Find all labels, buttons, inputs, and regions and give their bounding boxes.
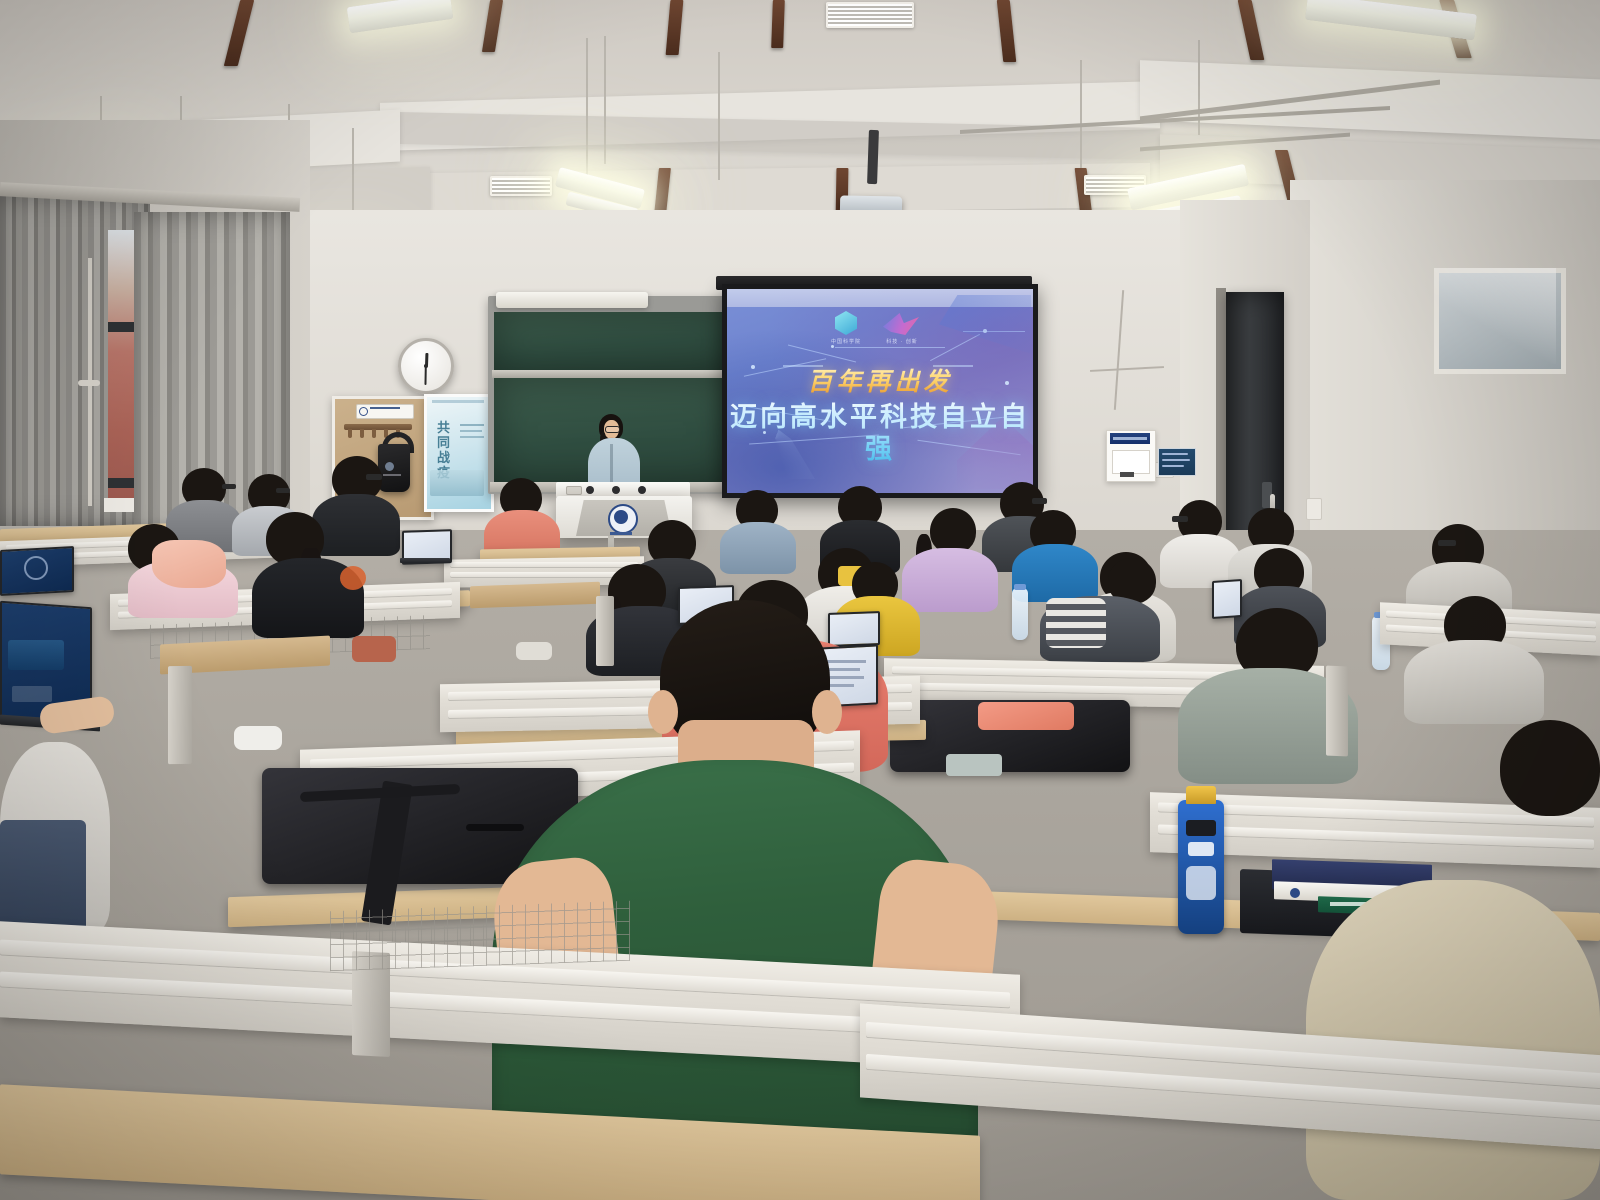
wall-switch: [1306, 498, 1322, 520]
podium-control-button[interactable]: [612, 486, 620, 494]
water-bottle: [1012, 588, 1028, 640]
light-hanger: [718, 52, 720, 180]
student-glasses: [1032, 498, 1047, 504]
coat-hook: [360, 429, 364, 438]
student-striped-shirt: [1046, 598, 1106, 648]
cube-logo-icon: [835, 311, 857, 335]
laptop-screen-line: [824, 660, 866, 663]
student-head: [1500, 720, 1600, 816]
podium-emblem-inner: [614, 510, 628, 524]
bench-slat: [450, 572, 638, 578]
corkboard-label-logo: [359, 407, 368, 416]
slide-title-primary: 百年再出发: [727, 367, 1033, 397]
slide: 中国科学院 科技 · 创新 百年再出发 迈向高水平科技自立自强: [727, 289, 1033, 493]
podium-emblem-text: [610, 532, 632, 535]
presenter-glasses: [605, 426, 620, 433]
notice-diagram: [1112, 450, 1150, 474]
notice-footer: [1120, 472, 1134, 477]
notice-line: [1162, 453, 1188, 455]
projector-mount: [867, 130, 879, 184]
poster-line: [460, 430, 482, 432]
bag-red: [352, 636, 396, 662]
student-accessory: [340, 566, 366, 590]
student-torso: [1404, 640, 1544, 724]
bottle-label-smile: [1188, 842, 1214, 856]
ceiling-beam: [771, 0, 785, 48]
poster-header-line: [432, 400, 484, 403]
notice-line: [1162, 459, 1190, 461]
student-glasses: [276, 488, 290, 493]
student-glasses: [366, 474, 382, 480]
tote-bag-text: [383, 474, 401, 476]
projection-screen: 中国科学院 科技 · 创新 百年再出发 迈向高水平科技自立自强: [722, 284, 1038, 498]
light-hanger: [586, 38, 588, 178]
bottle-cap: [1186, 786, 1216, 804]
lecture-hall-photo: 共同战疫: [0, 0, 1600, 1200]
chalkboard-rail: [492, 370, 732, 378]
shoe: [516, 642, 552, 660]
front-student-ear: [648, 690, 678, 734]
tablet[interactable]: [1212, 579, 1242, 619]
notice-header-text: [1113, 437, 1147, 440]
podium-panel: [566, 486, 582, 495]
student-jeans: [0, 820, 86, 936]
chalkboard-upper: [494, 312, 730, 370]
podium-control-button[interactable]: [638, 486, 646, 494]
light-hanger: [604, 36, 606, 164]
window-handle: [78, 380, 100, 386]
coat-hook-bar: [344, 424, 412, 430]
bottle-label-art: [1186, 866, 1216, 900]
laptop-wallpaper: [8, 640, 64, 670]
laptop-screen-line: [824, 676, 864, 679]
slide-title-secondary: 迈向高水平科技自立自强: [727, 401, 1033, 465]
book-logo: [1290, 888, 1300, 898]
poster-line: [460, 424, 484, 426]
tote-bag: [378, 444, 410, 492]
tote-bag-logo: [385, 462, 394, 471]
seat-wood: [470, 582, 600, 609]
wall-clock: [398, 338, 454, 394]
student-torso: [902, 548, 998, 612]
poster-line: [460, 436, 484, 438]
corkboard-label-text: [370, 407, 400, 409]
student-torso: [720, 522, 796, 574]
student-torso: [312, 494, 400, 556]
poster-image: [430, 470, 484, 496]
student-glasses: [1172, 516, 1188, 522]
laptop-base: [400, 558, 450, 563]
window-gap: [108, 230, 134, 500]
air-vent: [490, 176, 552, 196]
laptop[interactable]: [828, 611, 880, 647]
pink-tote-bag: [152, 540, 226, 588]
notice-line: [1162, 465, 1184, 467]
coat-hook: [372, 429, 376, 438]
air-vent: [826, 2, 914, 28]
water-bottle-cap: [1014, 584, 1026, 590]
student-glasses: [1438, 540, 1456, 546]
slide-node-dot: [831, 345, 834, 348]
bench-slat: [450, 562, 638, 568]
shoe: [234, 726, 282, 750]
bench-post: [168, 666, 192, 764]
desk-basket: [330, 901, 630, 971]
window-right-glare: [1434, 268, 1556, 364]
bottle-label-dark: [1186, 820, 1216, 836]
front-student-ear: [812, 690, 842, 734]
laptop-taskbar: [12, 686, 52, 702]
student-glasses: [222, 484, 236, 489]
light-hanger: [1080, 60, 1082, 168]
salmon-fabric: [978, 702, 1074, 730]
bench-post: [596, 596, 614, 666]
cube-logo-caption: 中国科学院: [823, 338, 869, 345]
laptop-wallpaper-mark: [24, 556, 48, 580]
window-mullion: [108, 322, 134, 332]
slide-circuit-line: [835, 347, 945, 348]
coat-hook: [348, 429, 352, 438]
light-hanger: [1198, 40, 1200, 135]
podium-control-button[interactable]: [586, 486, 594, 494]
window-mullion: [108, 478, 134, 488]
chalkboard-light: [496, 292, 648, 308]
clock-minute-hand: [425, 366, 427, 385]
wing-logo-caption: 科技 · 创新: [877, 338, 927, 345]
wing-logo-icon: [883, 313, 919, 335]
clock-center: [424, 364, 428, 368]
bench-post: [1326, 666, 1348, 757]
